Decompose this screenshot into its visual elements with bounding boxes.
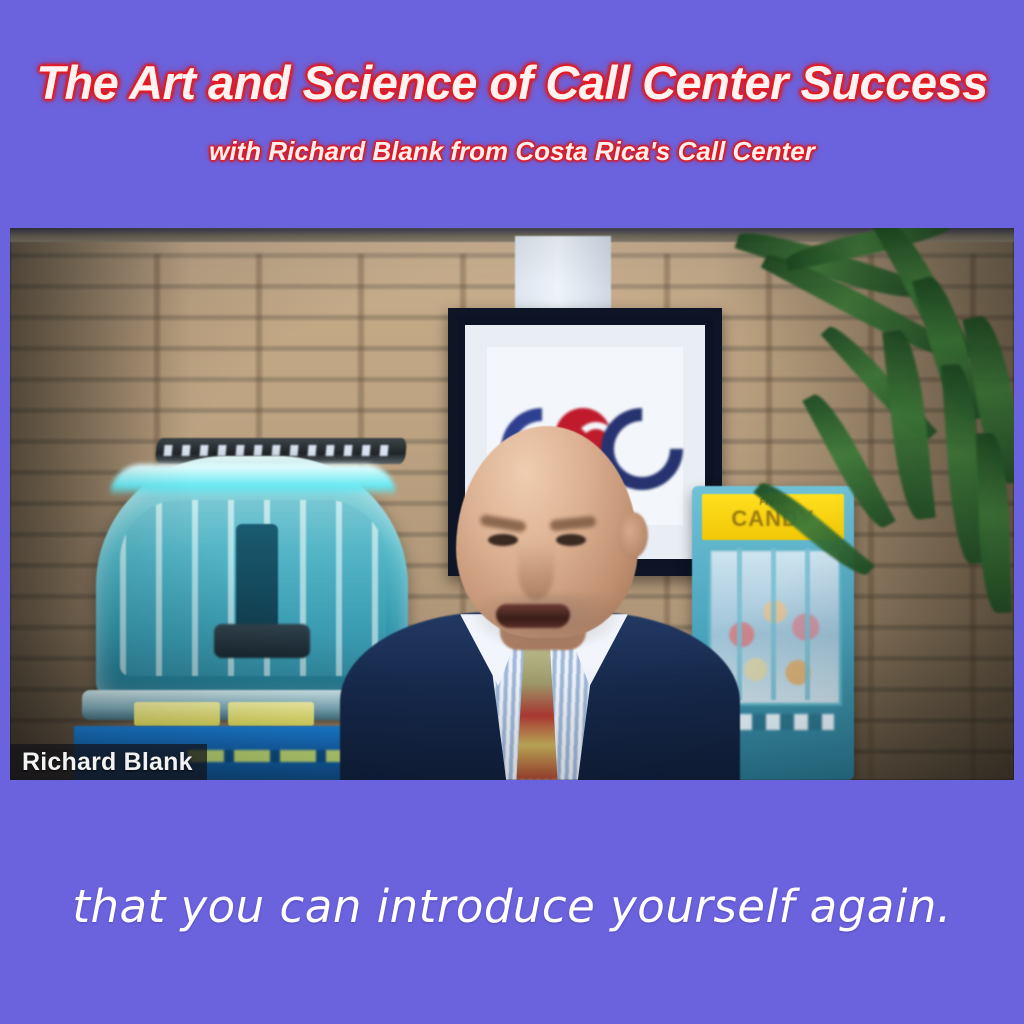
eye-right [556,534,586,546]
palm-plant-bottom [734,408,974,780]
jukebox-center-panel [236,524,278,638]
header-banner: The Art and Science of Call Center Succe… [0,0,1024,224]
video-thumbnail-page: The Art and Science of Call Center Succe… [0,0,1024,1024]
mouth [496,604,570,628]
jukebox-song-card-right [228,702,314,726]
video-frame[interactable]: Fresh CANDY [10,228,1014,780]
eye-left [488,534,518,546]
speaker-figure [340,408,740,780]
nose [518,544,554,600]
page-title: The Art and Science of Call Center Succe… [0,54,1024,112]
speaker-name-overlay: Richard Blank [10,744,207,780]
video-scene: Fresh CANDY [10,228,1014,780]
jukebox-song-card-left [134,702,220,726]
ear [618,512,648,558]
jukebox-mechanism [214,624,310,658]
caption-area: that you can introduce yourself again. [0,780,1024,1024]
page-subtitle: with Richard Blank from Costa Rica's Cal… [0,134,1024,168]
palm-frond [802,389,895,534]
subtitle-caption: that you can introduce yourself again. [0,880,1024,934]
